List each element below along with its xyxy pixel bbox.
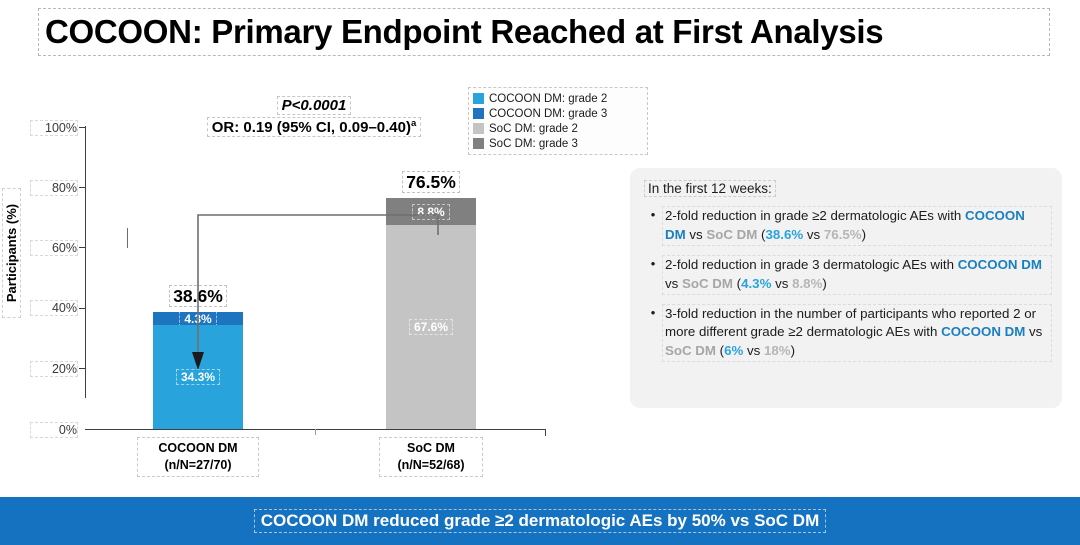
key-finding-span: vs xyxy=(665,276,682,291)
x-axis-label-cocoon-name: COCOON DM xyxy=(142,440,254,457)
axis-stray-tick-mark xyxy=(127,228,128,248)
key-finding-bullet: •2-fold reduction in grade ≥2 dermatolog… xyxy=(644,206,1052,246)
x-axis-label-soc: SoC DM (n/N=52/68) xyxy=(379,437,483,477)
key-finding-span: COCOON DM xyxy=(958,257,1042,272)
key-finding-span: vs xyxy=(743,343,764,358)
key-finding-span: SoC DM xyxy=(706,227,757,242)
key-finding-span: SoC DM xyxy=(682,276,733,291)
legend-item-cocoon-grade2[interactable]: COCOON DM: grade 2 xyxy=(473,91,643,106)
bar-total-label-soc: 76.5% xyxy=(368,172,494,193)
comparison-bracket xyxy=(190,213,445,373)
key-finding-span: vs xyxy=(771,276,792,291)
statistics-annotation: P<0.0001 OR: 0.19 (95% CI, 0.09–0.40)a xyxy=(178,96,450,137)
x-axis-label-cocoon-n: (n/N=27/70) xyxy=(142,457,254,474)
legend-swatch-icon xyxy=(473,138,484,149)
y-tick-label-20: 20% xyxy=(30,361,78,377)
legend-swatch-icon xyxy=(473,123,484,134)
x-axis-label-soc-n: (n/N=52/68) xyxy=(384,457,478,474)
key-finding-span: 2-fold reduction in grade ≥2 dermatologi… xyxy=(665,208,965,223)
key-finding-span: 76.5% xyxy=(824,227,862,242)
key-finding-span: ) xyxy=(791,343,795,358)
x-axis-end-tick xyxy=(545,429,546,436)
legend-item-soc-grade3[interactable]: SoC DM: grade 3 xyxy=(473,136,643,151)
key-finding-span: SoC DM xyxy=(665,343,716,358)
chart-legend: COCOON DM: grade 2 COCOON DM: grade 3 So… xyxy=(468,87,648,155)
y-axis-title: Participants (%) xyxy=(2,188,21,318)
page-title: COCOON: Primary Endpoint Reached at Firs… xyxy=(39,13,883,51)
bullet-marker-icon: • xyxy=(644,255,662,295)
footnote-marker: a xyxy=(411,118,416,129)
key-finding-span: 4.3% xyxy=(741,276,771,291)
odds-ratio-label: OR: 0.19 (95% CI, 0.09–0.40)a xyxy=(207,117,422,137)
key-finding-span: ( xyxy=(716,343,724,358)
legend-label-cocoon-grade2: COCOON DM: grade 2 xyxy=(489,93,607,105)
legend-label-soc-grade3: SoC DM: grade 3 xyxy=(489,138,578,150)
slide-canvas: COCOON: Primary Endpoint Reached at Firs… xyxy=(0,0,1080,545)
legend-label-cocoon-grade3: COCOON DM: grade 3 xyxy=(489,108,607,120)
p-value-label: P<0.0001 xyxy=(277,96,352,115)
key-finding-bullet: •2-fold reduction in grade 3 dermatologi… xyxy=(644,255,1052,295)
key-finding-span: 38.6% xyxy=(765,227,803,242)
key-finding-span: 2-fold reduction in grade 3 dermatologic… xyxy=(665,257,958,272)
takeaway-banner: COCOON DM reduced grade ≥2 dermatologic … xyxy=(0,497,1080,545)
x-axis-label-cocoon: COCOON DM (n/N=27/70) xyxy=(137,437,259,477)
key-findings-panel: In the first 12 weeks: •2-fold reduction… xyxy=(630,168,1062,408)
key-finding-span: 6% xyxy=(724,343,743,358)
key-findings-list: •2-fold reduction in grade ≥2 dermatolog… xyxy=(644,206,1052,371)
key-finding-span: 18% xyxy=(764,343,791,358)
key-finding-text: 2-fold reduction in grade ≥2 dermatologi… xyxy=(662,206,1052,246)
x-axis-mid-tick xyxy=(315,429,316,435)
takeaway-banner-text: COCOON DM reduced grade ≥2 dermatologic … xyxy=(254,509,827,533)
key-finding-span: ( xyxy=(733,276,741,291)
legend-item-soc-grade2[interactable]: SoC DM: grade 2 xyxy=(473,121,643,136)
key-finding-span: vs xyxy=(686,227,707,242)
key-finding-text: 2-fold reduction in grade 3 dermatologic… xyxy=(662,255,1052,295)
y-tick-label-60: 60% xyxy=(30,240,78,256)
key-finding-span: 8.8% xyxy=(792,276,822,291)
y-axis-line xyxy=(85,126,86,398)
key-finding-span: vs xyxy=(1025,324,1042,339)
y-tick-label-0: 0% xyxy=(30,422,78,438)
key-finding-text: 3-fold reduction in the number of partic… xyxy=(662,304,1052,363)
key-finding-span: COCOON DM xyxy=(941,324,1025,339)
y-tick-label-100: 100% xyxy=(30,120,78,136)
key-finding-span: ) xyxy=(822,276,826,291)
bullet-marker-icon: • xyxy=(644,206,662,246)
y-tick-label-40: 40% xyxy=(30,300,78,316)
key-finding-bullet: •3-fold reduction in the number of parti… xyxy=(644,304,1052,363)
x-axis-label-soc-name: SoC DM xyxy=(384,440,478,457)
legend-item-cocoon-grade3[interactable]: COCOON DM: grade 3 xyxy=(473,106,643,121)
key-finding-span: ) xyxy=(862,227,866,242)
p-value-text: P<0.0001 xyxy=(282,97,347,114)
legend-swatch-icon xyxy=(473,108,484,119)
y-tick-label-80: 80% xyxy=(30,180,78,196)
legend-swatch-icon xyxy=(473,93,484,104)
key-findings-heading: In the first 12 weeks: xyxy=(644,180,776,197)
bullet-marker-icon: • xyxy=(644,304,662,363)
odds-ratio-text: OR: 0.19 (95% CI, 0.09–0.40) xyxy=(212,119,411,136)
key-finding-span: vs xyxy=(803,227,824,242)
legend-label-soc-grade2: SoC DM: grade 2 xyxy=(489,123,578,135)
slide-title-box: COCOON: Primary Endpoint Reached at Firs… xyxy=(38,8,1050,56)
